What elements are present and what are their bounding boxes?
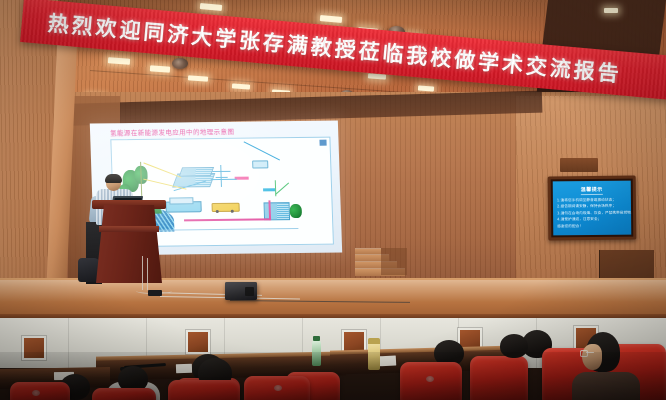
notice-screen: 温馨提示 1.请将您手机调至静音或振动状态； 2.报告期间请安静，保持会场秩序；… [553,181,632,236]
diagram-trees [290,204,302,218]
audience-head [500,334,528,358]
seat-badge [426,376,434,382]
presenter-hair [105,174,122,183]
audience-seat [92,388,156,400]
audience-seat [400,362,462,400]
slide-logo-icon [319,140,326,146]
notice-line: 感谢您的配合！ [557,223,631,229]
diagram-arrow-blue [211,179,237,180]
front-wall-accent-panel [22,336,46,360]
ceiling-downlight [604,8,618,13]
seat-badge [274,385,282,391]
speaker-grille-icon [245,287,254,296]
thermos-cap [368,338,380,344]
diagram-arrow-green [275,180,277,196]
notice-line: 1.请将您手机调至静音或振动状态； [557,198,631,204]
stage-step-shadow [381,248,407,275]
water-bottle [312,340,321,366]
podium-cable [147,258,148,290]
diagram-arrow-yellow [143,162,181,177]
front-wall-accent-panel [186,330,210,354]
stage-steps [355,248,407,282]
podium-shelf [99,226,159,232]
ceiling-speaker [172,58,188,69]
audience-seat [10,382,70,400]
bottle-cap [313,336,320,341]
notice-display-monitor: 温馨提示 1.请将您手机调至静音或振动状态； 2.报告期间请安静，保持会场秩序；… [548,176,637,241]
desk-paper [176,364,192,374]
thermos-flask [368,342,380,370]
diagram-arrow-blue [244,141,280,160]
stage-connector-box [148,290,162,296]
eyeglasses-bridge [586,352,594,353]
diagram-arrow-green [275,182,289,194]
diagram-tower-arm [216,177,228,178]
diagram-arrow-pink [184,218,270,221]
podium [96,205,162,283]
audience-seat [168,380,240,400]
stage-monitor-speaker [225,282,257,300]
diagram-wheel [216,210,219,213]
diagram-wheel [231,210,234,213]
auditorium-scene: 热烈欢迎同济大学张存满教授莅临我校做学术交流报告 氢能源在新能源发电应用中的地理… [0,0,666,400]
audience-shoulders [572,372,640,400]
seat-badge [32,390,40,396]
diagram-car [252,160,268,168]
diagram-label-chip [263,188,275,191]
front-wall-seam [68,318,69,368]
notice-line: 2.报告期间请安静，保持会场秩序； [557,204,631,210]
diagram-facility [179,167,214,176]
podium-cable [142,256,143,290]
diagram-tower-arm [212,171,230,172]
monitor-bracket [560,158,598,172]
notice-title: 温馨提示 [581,186,603,195]
diagram-ship-cabin [169,197,193,204]
audience-seat [470,356,528,400]
slide-title: 氢能源在新能源发电应用中的地理示意图 [110,125,332,138]
notice-line: 3.请勿在会场内吸烟、饮食，严禁携带易燃物品； [557,210,631,216]
audience-seat [244,376,310,400]
audience-face [582,344,602,370]
notice-line: 4.请爱护通道，注意安全； [557,217,631,223]
ceiling-downlight [418,85,434,91]
